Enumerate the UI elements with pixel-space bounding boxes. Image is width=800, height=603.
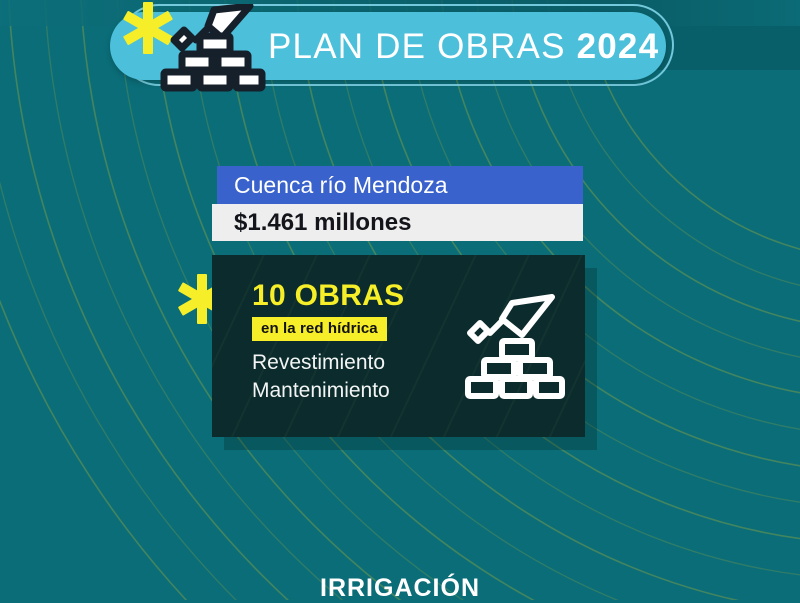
trowel-bricks-icon [152,4,270,96]
amount-value: $1.461 millones [234,204,411,241]
works-count: 10 OBRAS [252,279,404,313]
trowel-bricks-icon [460,291,568,403]
basin-label: Cuenca río Mendoza [234,166,448,204]
works-type-revestimiento: Revestimiento [252,351,385,375]
works-card: 10 OBRAS en la red hídrica Revestimiento… [212,255,585,437]
header: PLAN DE OBRAS 2024 [0,0,800,108]
page-title-year: 2024 [577,27,660,66]
organization-name: IRRIGACIÓN [0,574,800,603]
basin-label-bar: Cuenca río Mendoza [217,166,583,204]
page-title-thin: PLAN DE OBRAS [268,27,566,66]
works-type-mantenimiento: Mantenimiento [252,379,390,403]
amount-bar: $1.461 millones [212,204,583,241]
works-scope-badge: en la red hídrica [252,317,387,341]
page-title: PLAN DE OBRAS 2024 [268,24,658,70]
